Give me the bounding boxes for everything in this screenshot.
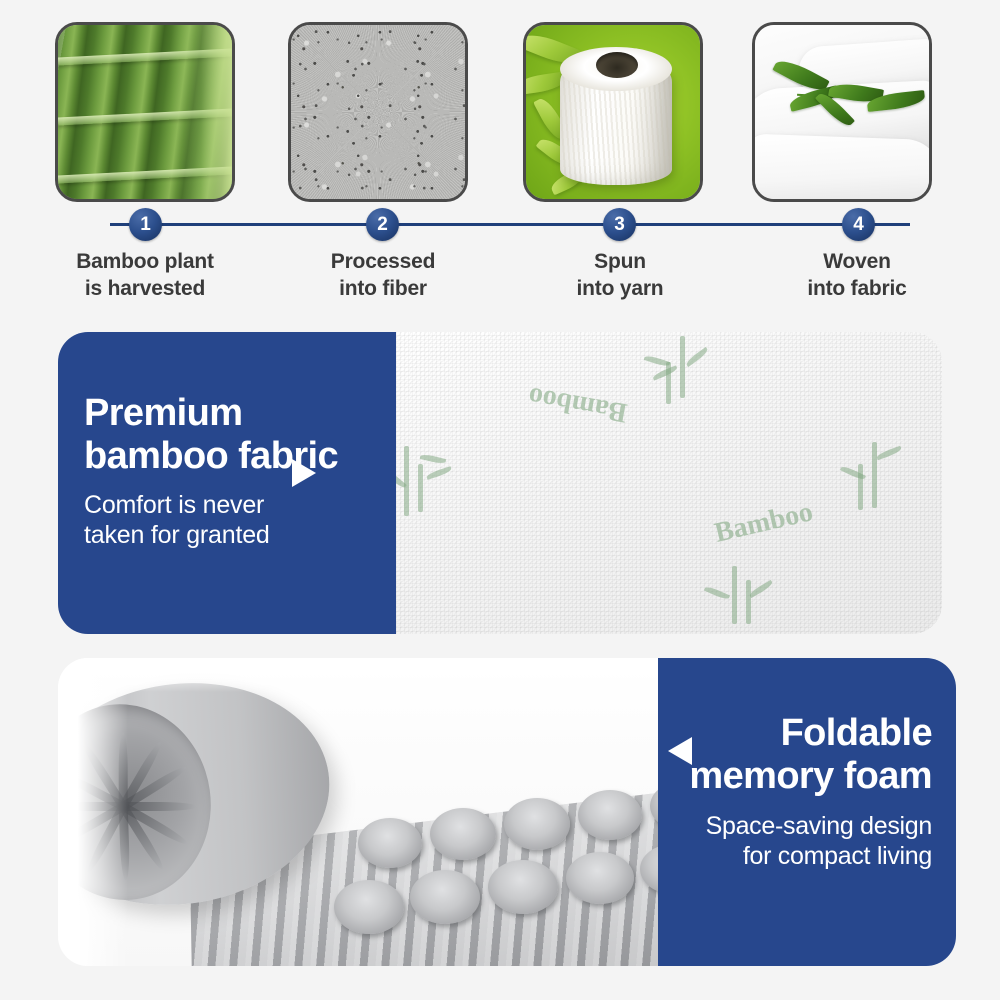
yarn-spool-core-hole (596, 52, 638, 78)
foam-subtext: Space-saving design for compact living (658, 811, 932, 871)
step-label-line: into fabric (742, 276, 972, 303)
foam-headline-line: Foldable (658, 712, 932, 755)
foam-image-left-fade (58, 658, 128, 966)
foam-egg-bump (578, 790, 642, 840)
stalk-leaf (704, 585, 730, 601)
foam-headline: Foldable memory foam (658, 712, 932, 799)
foam-egg-bump (334, 880, 404, 934)
foam-headline-line: memory foam (658, 755, 932, 798)
step-number-4: 4 (842, 208, 875, 241)
stalk-leaf (748, 580, 774, 598)
step-label-line: into yarn (505, 276, 735, 303)
foam-text-block: Foldable memory foam Space-saving design… (658, 658, 956, 966)
foam-egg-bump (358, 818, 422, 868)
step-number-1: 1 (129, 208, 162, 241)
process-image-bamboo-plant (55, 22, 235, 202)
stalk-cane (680, 336, 685, 398)
timeline-rule (110, 223, 910, 226)
bamboo-process-section: 1 2 3 4 Bamboo plant is harvested Proces… (0, 0, 1000, 312)
step-label-2: Processed into fiber (268, 249, 498, 303)
step-label-line: Bamboo plant (30, 249, 260, 276)
foam-egg-bump (430, 808, 496, 860)
stalk-cane (418, 464, 423, 512)
step-number-2: 2 (366, 208, 399, 241)
stalk-cane (732, 566, 737, 624)
step-label-3: Spun into yarn (505, 249, 735, 303)
foam-egg-bump (566, 852, 634, 904)
step-label-1: Bamboo plant is harvested (30, 249, 260, 303)
step-label-line: Spun (505, 249, 735, 276)
rolled-egg-crate-memory-foam-photo (58, 658, 658, 966)
foldable-memory-foam-panel: Foldable memory foam Space-saving design… (58, 658, 956, 966)
foam-image-top-fade (58, 658, 658, 692)
fabric-headline: Premium bamboo fabric (84, 392, 396, 477)
process-image-spun-yarn (523, 22, 703, 202)
process-image-woven-fabric (752, 22, 932, 202)
stalk-cane (872, 442, 877, 508)
foam-subtext-line: Space-saving design (658, 811, 932, 841)
step-label-4: Woven into fabric (742, 249, 972, 303)
foam-egg-bump (504, 798, 570, 850)
step-label-line: Woven (742, 249, 972, 276)
folded-towel (752, 134, 932, 202)
stalk-cane (746, 580, 751, 624)
bamboo-fiber-photo (291, 25, 465, 199)
stalk-leaf (420, 453, 447, 465)
fabric-subtext-line: taken for granted (84, 520, 396, 550)
stalk-cane (858, 464, 863, 510)
step-label-line: Processed (268, 249, 498, 276)
step-label-line: is harvested (30, 276, 260, 303)
stalk-leaf (644, 354, 671, 368)
step-label-line: into fiber (268, 276, 498, 303)
bamboo-background-blur (170, 25, 232, 199)
fabric-subtext-line: Comfort is never (84, 490, 396, 520)
fabric-subtext: Comfort is never taken for granted (84, 490, 396, 550)
bamboo-knit-fabric-closeup: Bamboo Bamboo (396, 332, 942, 634)
yarn-spool-photo (526, 25, 700, 199)
fabric-headline-line: Premium (84, 392, 396, 435)
bamboo-grove-photo (58, 25, 232, 199)
process-image-processed-fiber (288, 22, 468, 202)
stalk-leaf (685, 347, 710, 367)
triangle-right-icon (292, 459, 316, 487)
foam-subtext-line: for compact living (658, 841, 932, 871)
stalk-leaf (652, 365, 678, 380)
woven-fabric-photo (755, 25, 929, 199)
step-number-3: 3 (603, 208, 636, 241)
triangle-left-icon (668, 737, 692, 765)
bamboo-watermark-text: Bamboo (526, 380, 630, 429)
fabric-text-block: Premium bamboo fabric Comfort is never t… (58, 332, 396, 634)
process-thumbnail-row (0, 22, 1000, 210)
stalk-leaf (876, 446, 902, 461)
fabric-headline-line: bamboo fabric (84, 435, 396, 478)
stalk-cane (404, 446, 409, 516)
foam-egg-bump (488, 860, 558, 914)
bamboo-watermark-text: Bamboo (712, 496, 816, 550)
foam-egg-bump (410, 870, 480, 924)
stalk-leaf (426, 466, 453, 480)
premium-bamboo-fabric-panel: Premium bamboo fabric Comfort is never t… (58, 332, 942, 634)
